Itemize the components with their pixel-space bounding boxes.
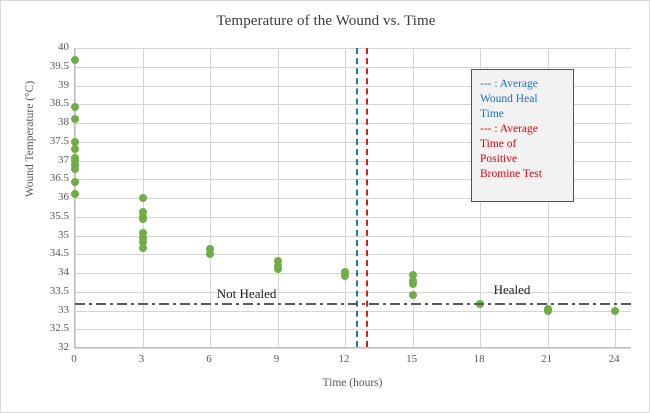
y-tick-label: 35 (29, 230, 69, 241)
not-healed-label: Not Healed (217, 286, 277, 302)
y-tick-label: 34.5 (29, 248, 69, 259)
gridline-horizontal (75, 348, 631, 349)
legend-text-line: --- : Average (480, 77, 565, 92)
data-point (139, 244, 147, 252)
data-point (544, 307, 552, 315)
data-point (71, 56, 79, 64)
y-tick-label: 32.5 (29, 323, 69, 334)
y-tick-label: 32 (29, 342, 69, 353)
x-axis-title: Time (hours) (74, 377, 631, 389)
y-tick-label: 34 (29, 267, 69, 278)
healed-threshold (75, 303, 631, 305)
legend-text-line: Wound Heal (480, 92, 565, 107)
x-tick-label: 18 (459, 353, 499, 365)
data-point (611, 307, 619, 315)
x-tick-label: 3 (122, 353, 162, 365)
healed-label: Healed (494, 282, 531, 298)
x-tick-label: 0 (54, 353, 94, 365)
data-point (206, 250, 214, 258)
x-tick-label: 6 (189, 353, 229, 365)
y-axis-title: Wound Temperature (°C) (24, 64, 36, 214)
data-point (139, 215, 147, 223)
x-tick-label: 12 (324, 353, 364, 365)
legend-text-line: --- : Average (480, 122, 565, 137)
data-point (71, 165, 79, 173)
data-point (71, 103, 79, 111)
data-point (274, 265, 282, 273)
y-tick-label: 33 (29, 305, 69, 316)
data-point (71, 145, 79, 153)
data-point (409, 291, 417, 299)
x-tick-label: 9 (257, 353, 297, 365)
data-point (139, 194, 147, 202)
data-point (409, 280, 417, 288)
legend-text-line: Time of (480, 137, 565, 152)
chart-title: Temperature of the Wound vs. Time (1, 13, 650, 30)
legend-entry-wound-heal-time: --- : AverageWound HealTime (480, 77, 565, 122)
y-tick-label: 33.5 (29, 286, 69, 297)
x-tick-label: 24 (594, 353, 634, 365)
y-tick-label: 40 (29, 42, 69, 53)
legend: --- : AverageWound HealTime --- : Averag… (471, 69, 574, 202)
legend-text-line: Time (480, 107, 565, 122)
x-axis-tick-labels: 03691215182124 (74, 353, 631, 369)
x-tick-label: 15 (392, 353, 432, 365)
data-point (71, 178, 79, 186)
data-point (341, 272, 349, 280)
chart-container: Temperature of the Wound vs. Time 3232.5… (0, 0, 650, 413)
x-tick-label: 21 (527, 353, 567, 365)
legend-entry-bromine-test: --- : AverageTime ofPositiveBromine Test (480, 122, 565, 182)
legend-text-line: Positive (480, 152, 565, 167)
data-point (71, 190, 79, 198)
legend-text-line: Bromine Test (480, 167, 565, 182)
